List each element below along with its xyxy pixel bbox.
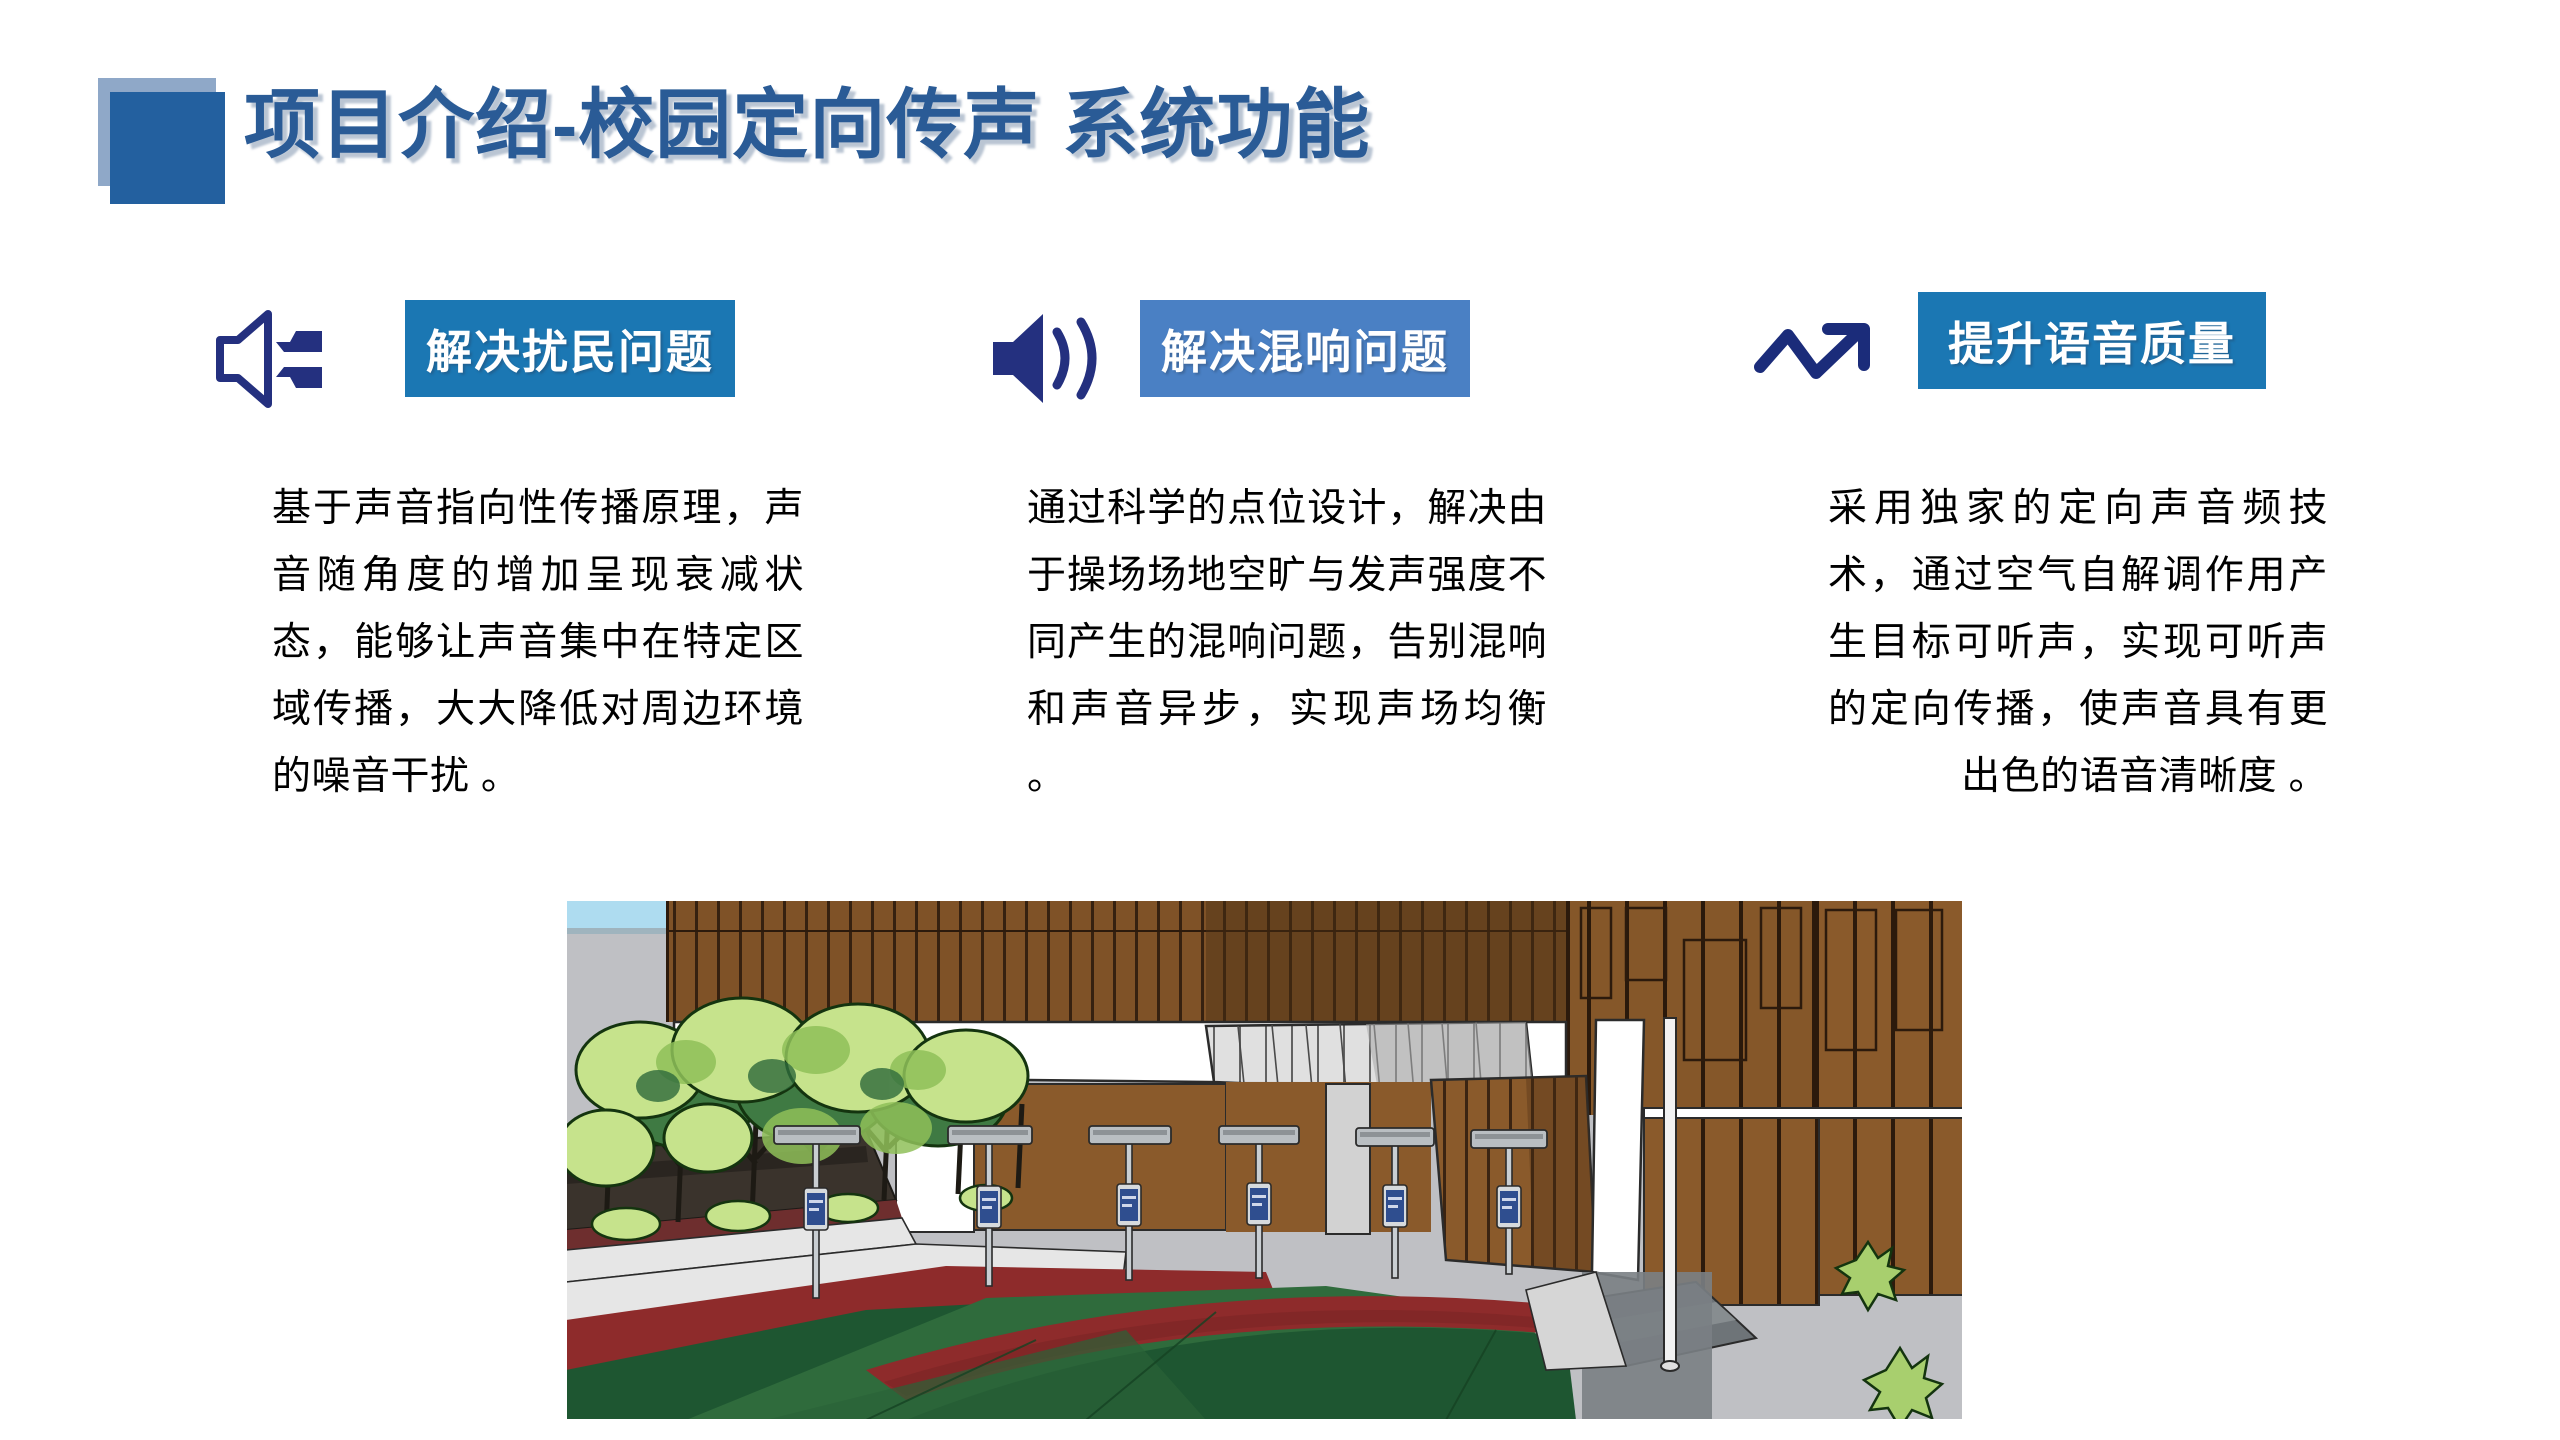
directional-speaker-icon: [210, 296, 350, 421]
feature-body-3: 采用独家的定向声音频技术，通过空气自解调作用产生目标可听声，实现可听声的定向传播…: [1828, 475, 2328, 810]
feature-header-2: 解决混响问题: [975, 290, 1615, 430]
feature-header-3: 提升语音质量: [1740, 290, 2380, 430]
feature-header-1: 解决扰民问题: [210, 290, 850, 430]
trend-up-arrow-icon: [1754, 296, 1894, 421]
feature-column-3: 提升语音质量 采用独家的定向声音频技术，通过空气自解调作用产生目标可听声，实现可…: [1740, 290, 2380, 430]
badge-solve-disturbance[interactable]: 解决扰民问题: [405, 300, 735, 397]
feature-body-2: 通过科学的点位设计，解决由于操场场地空旷与发声强度不同产生的混响问题，告别混响和…: [1027, 475, 1547, 810]
badge-solve-reverberation[interactable]: 解决混响问题: [1140, 300, 1470, 397]
feature-columns: 解决扰民问题 基于声音指向性传播原理，声音随角度的增加呈现衰减状态，能够让声音集…: [0, 290, 2560, 860]
speaker-waves-icon: [985, 296, 1125, 421]
campus-rendering-image: [566, 900, 1963, 1420]
page-header: 项目介绍-校园定向传声 系统功能: [0, 0, 2560, 220]
title-accent-square: [110, 92, 225, 204]
badge-improve-voice-quality[interactable]: 提升语音质量: [1918, 292, 2266, 389]
feature-body-1: 基于声音指向性传播原理，声音随角度的增加呈现衰减状态，能够让声音集中在特定区域传…: [272, 475, 804, 810]
feature-column-1: 解决扰民问题 基于声音指向性传播原理，声音随角度的增加呈现衰减状态，能够让声音集…: [210, 290, 850, 430]
feature-column-2: 解决混响问题 通过科学的点位设计，解决由于操场场地空旷与发声强度不同产生的混响问…: [975, 290, 1615, 430]
page-title: 项目介绍-校园定向传声 系统功能: [244, 80, 1370, 171]
